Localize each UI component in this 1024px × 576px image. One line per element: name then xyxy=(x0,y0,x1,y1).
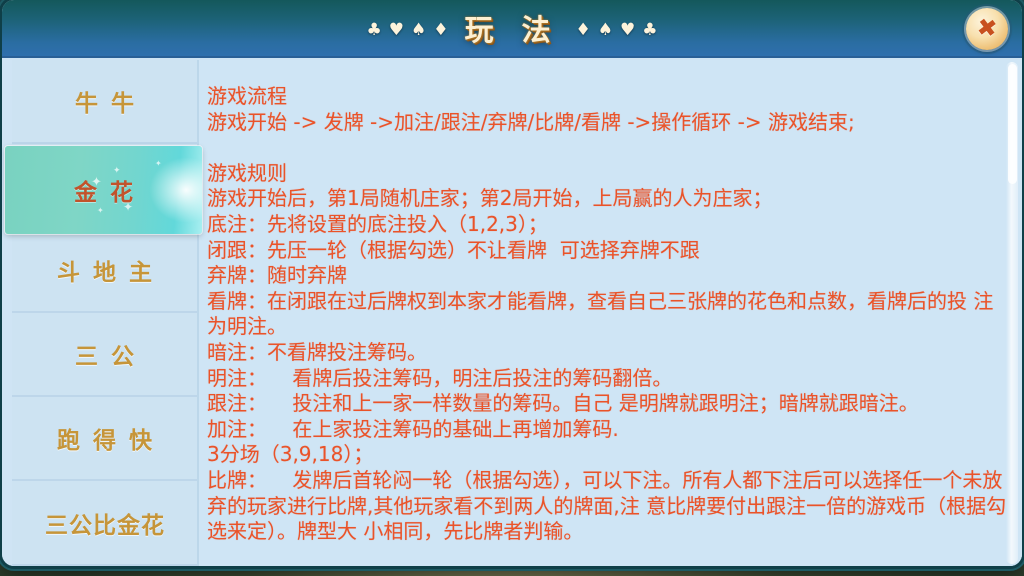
sidebar-item-paodekuai[interactable]: 跑得快 xyxy=(12,397,197,481)
game-mode-sidebar: 牛牛 金花 斗地主 三公 跑得快 三公比金花 xyxy=(12,60,197,566)
diamond-icon: ♦ xyxy=(576,22,591,39)
sidebar-item-label: 跑得快 xyxy=(44,421,165,455)
suit-decoration-left: ♣ ♥ ♠ ♦ xyxy=(366,22,448,39)
dialog-body: 牛牛 金花 斗地主 三公 跑得快 三公比金花 xyxy=(2,60,1022,566)
sidebar-item-jinhua-selected[interactable]: ✦ ✦ ✦ ✦ ✦ 金花 xyxy=(5,146,202,234)
game-screen: ♣ ♥ ♠ ♦ 玩 法 ♦ ♠ ♥ ♣ ✖ xyxy=(0,0,1024,576)
sidebar-item-label: 三公比金花 xyxy=(44,506,165,540)
scrollbar-thumb[interactable] xyxy=(1008,64,1017,184)
sparkle-icon: ✦ xyxy=(97,207,104,215)
sidebar-item-niuniu[interactable]: 牛牛 xyxy=(12,60,197,144)
spade-icon: ♠ xyxy=(598,22,613,39)
title-group: ♣ ♥ ♠ ♦ 玩 法 ♦ ♠ ♥ ♣ xyxy=(2,7,1022,49)
spade-icon: ♠ xyxy=(411,22,426,39)
rules-text: 游戏流程 游戏开始 -> 发牌 ->加注/跟注/弃牌/比牌/看牌 ->操作循环 … xyxy=(207,84,1007,545)
heart-icon: ♥ xyxy=(389,22,404,39)
diamond-icon: ♦ xyxy=(433,22,448,39)
club-icon: ♣ xyxy=(366,22,381,39)
sparkle-icon: ✦ xyxy=(155,160,162,168)
suit-decoration-right: ♦ ♠ ♥ ♣ xyxy=(576,22,658,39)
sidebar-item-doudizhu[interactable]: 斗地主 xyxy=(12,229,197,313)
club-icon: ♣ xyxy=(642,22,657,39)
sidebar-item-sangong[interactable]: 三公 xyxy=(12,313,197,397)
gameplay-rules-dialog: ♣ ♥ ♠ ♦ 玩 法 ♦ ♠ ♥ ♣ ✖ xyxy=(2,0,1022,566)
sidebar-item-sangongbijinhua[interactable]: 三公比金花 xyxy=(12,481,197,565)
close-button[interactable]: ✖ xyxy=(966,8,1008,50)
rules-content-panel: 游戏流程 游戏开始 -> 发牌 ->加注/跟注/弃牌/比牌/看牌 ->操作循环 … xyxy=(197,60,1022,566)
close-icon: ✖ xyxy=(975,15,998,42)
heart-icon: ♥ xyxy=(620,22,635,39)
sidebar-item-label: 斗地主 xyxy=(44,253,165,287)
dialog-titlebar: ♣ ♥ ♠ ♦ 玩 法 ♦ ♠ ♥ ♣ ✖ xyxy=(2,0,1022,58)
sidebar-item-label: 金花 xyxy=(61,173,146,207)
sidebar-item-label: 三公 xyxy=(62,337,147,371)
page-title: 玩 法 xyxy=(464,7,559,49)
sidebar-item-label: 牛牛 xyxy=(62,84,147,118)
